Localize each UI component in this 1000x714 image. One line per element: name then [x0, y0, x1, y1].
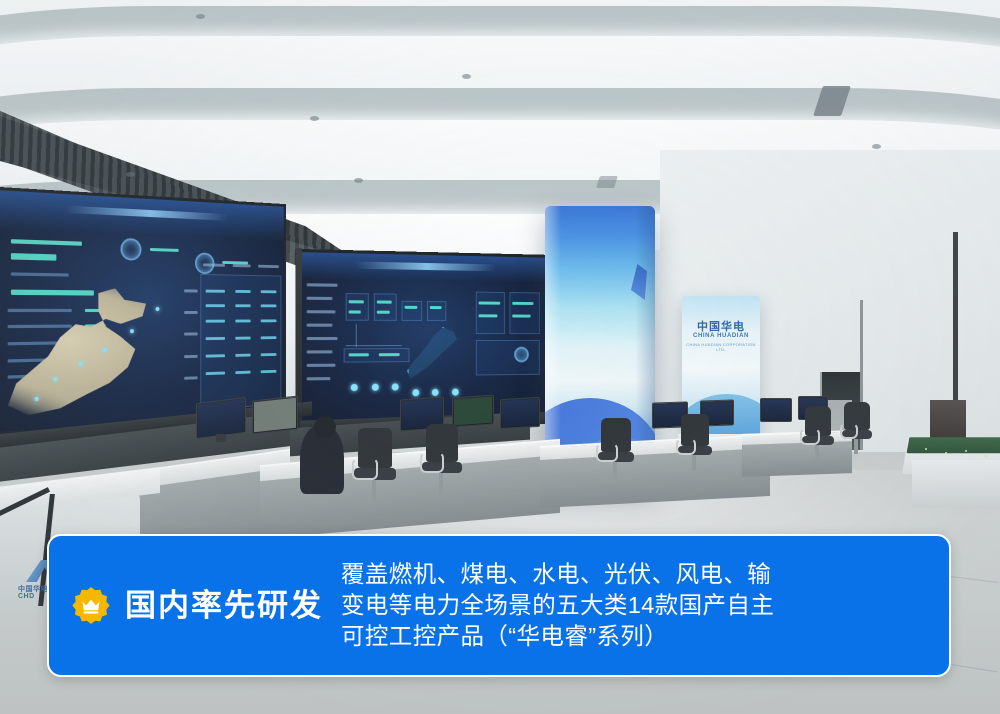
chair-post — [854, 439, 858, 454]
chair-armrest — [676, 438, 696, 455]
topology-value — [377, 300, 392, 303]
ceiling-downlight — [196, 14, 205, 19]
huadian-sub-label: CHINA HUADIAN CORPORATION LTD. — [682, 342, 760, 352]
table-header — [233, 264, 251, 267]
chair-post — [692, 455, 696, 471]
nav-item — [306, 283, 338, 287]
map-node — [103, 348, 107, 352]
topology-value — [348, 310, 361, 313]
busbar-value — [379, 354, 399, 357]
caption-banner: 国内率先研发 覆盖燃机、煤电、水电、光伏、风电、输 变电等电力全场景的五大类14… — [47, 534, 951, 677]
side-value — [512, 315, 531, 318]
topology-value — [404, 306, 417, 309]
monitor-screen — [502, 399, 538, 427]
table-cell — [235, 353, 251, 356]
side-widget — [476, 292, 505, 334]
monitor-screen — [762, 400, 790, 420]
nav-item — [306, 350, 332, 353]
chair-armrest — [596, 443, 618, 462]
operator-head — [314, 416, 336, 438]
chair-post — [372, 480, 376, 502]
side-value — [512, 302, 533, 305]
gauge-ring — [514, 347, 529, 363]
ceiling-downlight — [872, 144, 881, 149]
nav-item — [306, 337, 338, 340]
nav-item — [306, 310, 335, 313]
monitor-screen — [198, 399, 244, 437]
map-node — [156, 307, 160, 311]
model-marker — [985, 455, 987, 457]
topology-widget — [402, 301, 422, 321]
model-terrain-surface — [907, 437, 1000, 453]
operator-monitor — [760, 398, 792, 422]
topology-widget — [427, 301, 447, 321]
side-widget — [510, 292, 541, 334]
banner-headline: 国内率先研发 — [125, 590, 323, 621]
monitor-screen — [454, 397, 492, 426]
topology-value — [377, 310, 390, 313]
nav-item — [306, 323, 332, 326]
monitor-stand — [216, 434, 226, 442]
ceiling-downlight — [126, 172, 135, 177]
chair-armrest — [840, 423, 858, 439]
table-cell — [261, 370, 276, 373]
table-cell — [206, 337, 225, 340]
chair-post — [613, 462, 617, 480]
office-chair — [800, 406, 838, 466]
data-table-panel — [200, 274, 281, 409]
banner-description: 覆盖燃机、煤电、水电、光伏、风电、输 变电等电力全场景的五大类14款国产自主 可… — [323, 559, 949, 653]
table-cell — [235, 305, 251, 308]
table-row-label — [184, 289, 198, 292]
operator-monitor — [252, 396, 298, 435]
topology-widget — [374, 294, 397, 321]
banner-line-1: 覆盖燃机、煤电、水电、光伏、风电、输 — [341, 559, 933, 590]
map-node — [34, 396, 38, 400]
topology-value — [348, 300, 363, 303]
table-cell — [206, 354, 225, 357]
table-header — [203, 263, 224, 266]
map-node — [78, 362, 82, 366]
table-cell — [235, 319, 251, 322]
kpi-value — [11, 289, 93, 295]
table-cell — [235, 370, 251, 373]
office-chair — [420, 424, 466, 498]
office-chair — [676, 414, 716, 478]
map-node — [130, 329, 134, 333]
side-value — [478, 314, 497, 317]
model-marker — [945, 452, 947, 454]
map-node — [53, 377, 57, 381]
table-cell — [206, 320, 225, 323]
ceiling-downlight — [310, 116, 319, 121]
busbar-value — [348, 354, 369, 357]
wall-equipment-box — [930, 400, 966, 440]
table-header — [259, 264, 279, 267]
chair-armrest — [352, 458, 378, 480]
table-cell — [235, 290, 251, 293]
nav-item — [306, 296, 332, 299]
table-cell — [261, 336, 276, 339]
chair-post — [439, 473, 443, 493]
chair-armrest — [420, 452, 444, 473]
side-value — [478, 301, 500, 304]
ceiling-downlight — [462, 74, 471, 79]
topology-link — [346, 345, 402, 346]
table-cell — [206, 304, 225, 307]
topology-link — [356, 324, 357, 347]
table-cell — [235, 336, 251, 339]
table-cell — [206, 289, 225, 292]
office-chair — [596, 418, 638, 488]
huadian-en-label: CHINA HUADIAN — [682, 333, 760, 339]
table-cell — [261, 353, 276, 356]
model-marker — [925, 448, 927, 450]
model-marker — [965, 450, 967, 452]
operator-monitor — [196, 397, 246, 439]
banner-badge-group: 国内率先研发 — [49, 586, 323, 626]
table-row-label — [184, 311, 198, 314]
operator-monitor — [452, 395, 494, 428]
table-cell — [261, 290, 276, 293]
operator-monitor — [500, 397, 540, 429]
chair-post — [815, 445, 819, 461]
banner-line-2: 变电等电力全场景的五大类14款国产自主 — [341, 590, 933, 621]
topology-widget — [346, 293, 369, 320]
ceiling-downlight — [354, 178, 363, 183]
topology-value — [429, 306, 441, 309]
monitor-screen — [254, 398, 296, 432]
chair-armrest — [800, 428, 820, 445]
crown-seal-icon — [71, 586, 111, 626]
trend-chart — [476, 340, 540, 376]
table-cell — [261, 305, 276, 308]
office-chair — [840, 402, 876, 460]
kpi-label — [8, 309, 72, 312]
banner-line-3: 可控工控产品（“华电睿”系列） — [341, 621, 933, 652]
model-table-base — [912, 460, 1000, 508]
nav-item — [306, 364, 335, 367]
table-cell — [261, 319, 276, 322]
table-row-label — [184, 355, 198, 358]
screenshot-root: 中国华电 CHINA HUADIAN CHINA HUADIAN CORPORA… — [0, 0, 1000, 714]
huadian-cn-label: 中国华电 — [682, 318, 760, 334]
device-icon — [372, 384, 379, 391]
office-chair — [352, 428, 400, 506]
